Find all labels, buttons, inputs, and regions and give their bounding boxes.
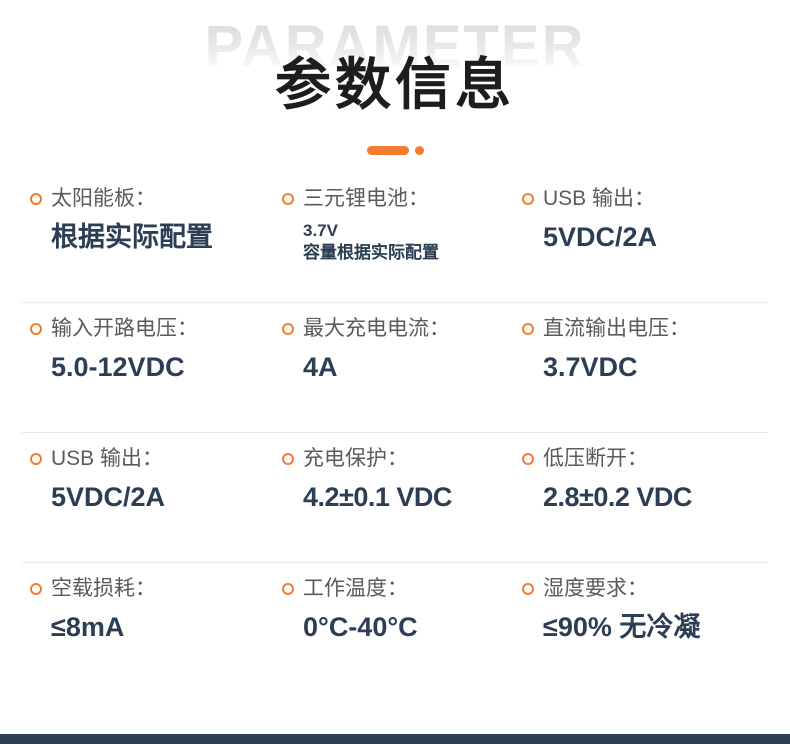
param-label: 输入开路电压： — [51, 316, 198, 342]
param-value: 2.8±0.2 VDC — [522, 482, 790, 512]
param-label-line: 三元锂电池： — [282, 186, 512, 212]
ring-icon — [30, 583, 42, 595]
param-label: 太阳能板： — [51, 186, 156, 212]
footer-accent-strip — [0, 734, 790, 744]
param-label-line: USB 输出： — [30, 446, 266, 472]
ring-icon — [30, 453, 42, 465]
ring-icon — [282, 323, 294, 335]
page-header: PARAMETER 参数信息 — [0, 0, 790, 172]
param-label: 最大充电电流： — [303, 316, 450, 342]
ring-icon — [522, 193, 534, 205]
param-cell: 工作温度： 0°C-40°C — [266, 562, 512, 692]
param-label: 空载损耗： — [51, 576, 156, 602]
param-cell: 输入开路电压： 5.0-12VDC — [0, 302, 266, 432]
accent-divider — [0, 146, 790, 155]
param-value: 5.0-12VDC — [30, 352, 266, 382]
param-cell: 空载损耗： ≤8mA — [0, 562, 266, 692]
param-label: 直流输出电压： — [543, 316, 690, 342]
param-label-line: 太阳能板： — [30, 186, 266, 212]
param-cell: USB 输出： 5VDC/2A — [0, 432, 266, 562]
param-label: 充电保护： — [303, 446, 408, 472]
param-value: 4A — [282, 352, 512, 382]
param-label-line: 空载损耗： — [30, 576, 266, 602]
param-cell: 三元锂电池： 3.7V 容量根据实际配置 — [266, 172, 512, 302]
param-cell: 充电保护： 4.2±0.1 VDC — [266, 432, 512, 562]
param-value: 4.2±0.1 VDC — [282, 482, 512, 512]
table-row: USB 输出： 5VDC/2A 充电保护： 4.2±0.1 VDC 低压断开： … — [0, 432, 790, 562]
param-value: 5VDC/2A — [522, 222, 790, 252]
page-title: 参数信息 — [0, 56, 790, 115]
param-value: ≤8mA — [30, 612, 266, 642]
parameter-table: 太阳能板： 根据实际配置 三元锂电池： 3.7V 容量根据实际配置 USB 输出… — [0, 172, 790, 692]
ring-icon — [282, 453, 294, 465]
table-row: 输入开路电压： 5.0-12VDC 最大充电电流： 4A 直流输出电压： 3.7… — [0, 302, 790, 432]
param-label-line: 最大充电电流： — [282, 316, 512, 342]
param-label: 湿度要求： — [543, 576, 648, 602]
table-row: 太阳能板： 根据实际配置 三元锂电池： 3.7V 容量根据实际配置 USB 输出… — [0, 172, 790, 302]
ring-icon — [522, 583, 534, 595]
param-label-line: 充电保护： — [282, 446, 512, 472]
param-cell: 直流输出电压： 3.7VDC — [512, 302, 790, 432]
ring-icon — [282, 583, 294, 595]
ring-icon — [522, 323, 534, 335]
accent-dot-icon — [415, 146, 424, 155]
param-value: ≤90% 无冷凝 — [522, 612, 790, 642]
param-label-line: 直流输出电压： — [522, 316, 790, 342]
param-value: 根据实际配置 — [30, 222, 266, 252]
ring-icon — [282, 193, 294, 205]
param-cell: 低压断开： 2.8±0.2 VDC — [512, 432, 790, 562]
param-label-line: 低压断开： — [522, 446, 790, 472]
ring-icon — [522, 453, 534, 465]
param-label: USB 输出： — [51, 446, 163, 472]
param-cell: 湿度要求： ≤90% 无冷凝 — [512, 562, 790, 692]
param-value-secondary: 容量根据实际配置 — [282, 242, 512, 264]
parameter-spec-page: PARAMETER 参数信息 太阳能板： 根据实际配置 三元锂电池： 3.7V — [0, 0, 790, 744]
param-cell: 太阳能板： 根据实际配置 — [0, 172, 266, 302]
param-value: 0°C-40°C — [282, 612, 512, 642]
table-row: 空载损耗： ≤8mA 工作温度： 0°C-40°C 湿度要求： ≤90% 无冷凝 — [0, 562, 790, 692]
param-cell: USB 输出： 5VDC/2A — [512, 172, 790, 302]
param-value: 3.7V — [282, 220, 512, 242]
param-value: 5VDC/2A — [30, 482, 266, 512]
param-cell: 最大充电电流： 4A — [266, 302, 512, 432]
accent-bar-icon — [367, 146, 409, 155]
ring-icon — [30, 193, 42, 205]
param-label-line: 工作温度： — [282, 576, 512, 602]
param-label: 低压断开： — [543, 446, 648, 472]
param-label: USB 输出： — [543, 186, 655, 212]
param-label-line: 输入开路电压： — [30, 316, 266, 342]
param-value: 3.7VDC — [522, 352, 790, 382]
param-label-line: 湿度要求： — [522, 576, 790, 602]
param-label-line: USB 输出： — [522, 186, 790, 212]
param-label: 三元锂电池： — [303, 186, 429, 212]
param-label: 工作温度： — [303, 576, 408, 602]
ring-icon — [30, 323, 42, 335]
